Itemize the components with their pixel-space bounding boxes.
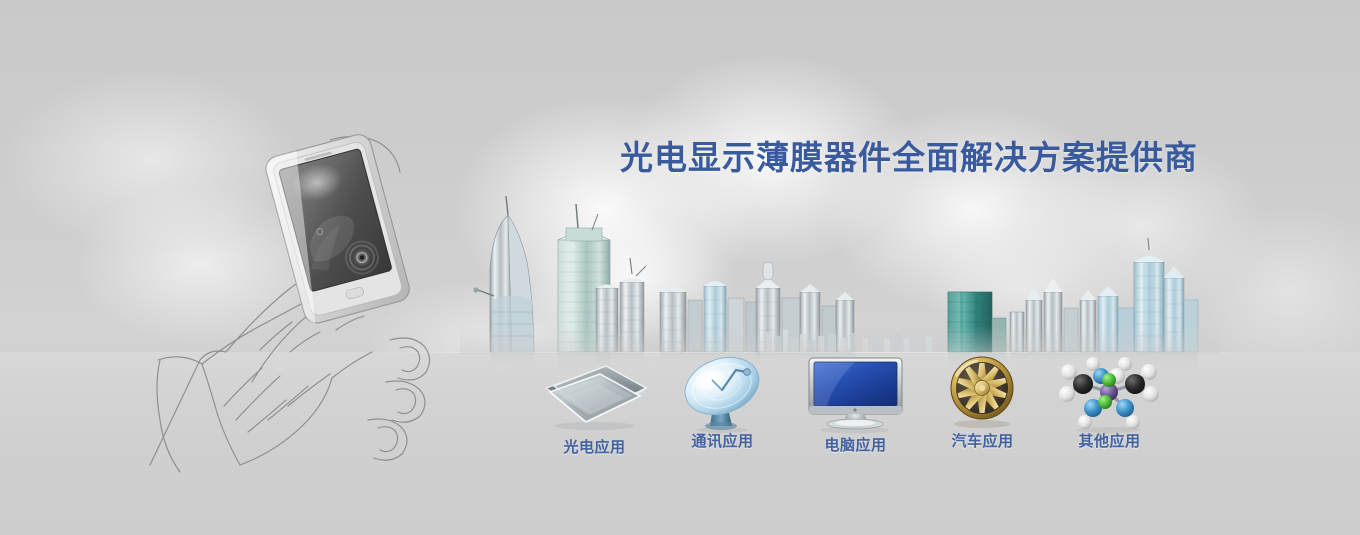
glass-panels-icon <box>532 356 657 434</box>
banner-stage: 光电显示薄膜器件全面解决方案提供商 <box>0 0 1360 535</box>
hand-holding-phone-illustration <box>140 120 480 490</box>
monitor-icon <box>793 354 918 432</box>
application-label: 电脑应用 <box>793 434 918 455</box>
application-item-2[interactable]: 电脑应用 <box>793 354 918 455</box>
satellite-dish-icon <box>660 350 785 428</box>
application-item-1[interactable]: 通讯应用 <box>660 350 785 451</box>
application-item-4[interactable]: 其他应用 <box>1047 350 1172 451</box>
molecule-icon <box>1047 350 1172 428</box>
application-label: 光电应用 <box>532 436 657 457</box>
application-item-3[interactable]: 汽车应用 <box>920 350 1045 451</box>
page-title: 光电显示薄膜器件全面解决方案提供商 <box>620 141 1198 174</box>
car-wheel-icon <box>920 350 1045 428</box>
application-item-0[interactable]: 光电应用 <box>532 356 657 457</box>
application-icons: 光电应用 <box>560 352 1200 467</box>
